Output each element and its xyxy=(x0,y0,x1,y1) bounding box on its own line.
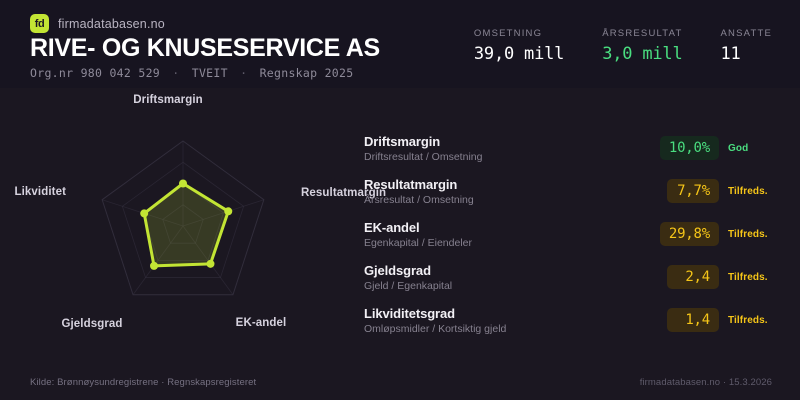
footer-credit: firmadatabasen.no · 15.3.2026 xyxy=(640,377,772,388)
metric-value-badge: 2,4 xyxy=(667,265,719,289)
kpi-value: 39,0 mill xyxy=(474,44,564,64)
metric-text: Gjeldsgrad Gjeld / Egenkapital xyxy=(364,263,667,292)
metric-row-likviditetsgrad[interactable]: Likviditetsgrad Omløpsmidler / Kortsikti… xyxy=(364,300,784,340)
metric-text: EK-andel Egenkapital / Eiendeler xyxy=(364,220,660,249)
company-orgnr: Org.nr 980 042 529 xyxy=(30,66,160,80)
metric-value-badge: 7,7% xyxy=(667,179,719,203)
radar-axis-label-driftsmargin: Driftsmargin xyxy=(133,94,203,106)
header-band: fd firmadatabasen.no RIVE- OG KNUSESERVI… xyxy=(0,0,800,88)
footer: Kilde: Brønnøysundregistrene · Regnskaps… xyxy=(0,370,800,400)
metric-formula: Driftsresultat / Omsetning xyxy=(364,151,660,163)
brand[interactable]: fd firmadatabasen.no xyxy=(30,14,165,33)
metric-list: Driftsmargin Driftsresultat / Omsetning … xyxy=(364,128,784,343)
kpi-ansatte: ANSATTE 11 xyxy=(720,28,772,64)
status-badge: Tilfreds. xyxy=(728,315,784,326)
report-card: fd firmadatabasen.no RIVE- OG KNUSESERVI… xyxy=(0,0,800,400)
metric-text: Resultatmargin Årsresultat / Omsetning xyxy=(364,177,667,206)
metric-right: 2,4 Tilfreds. xyxy=(667,265,784,289)
metric-row-resultatmargin[interactable]: Resultatmargin Årsresultat / Omsetning 7… xyxy=(364,171,784,211)
metric-right: 7,7% Tilfreds. xyxy=(667,179,784,203)
kpi-label: OMSETNING xyxy=(474,28,564,39)
metric-right: 10,0% God xyxy=(660,136,784,160)
metric-right: 1,4 Tilfreds. xyxy=(667,308,784,332)
page-title: RIVE- OG KNUSESERVICE AS xyxy=(30,34,380,63)
metric-name: Driftsmargin xyxy=(364,134,660,149)
kpi-arsresultat: ÅRSRESULTAT 3,0 mill xyxy=(602,28,682,64)
metric-name: Resultatmargin xyxy=(364,177,667,192)
radar-axis-label-gjeldsgrad: Gjeldsgrad xyxy=(61,318,122,330)
status-badge: Tilfreds. xyxy=(728,186,784,197)
status-badge: Tilfreds. xyxy=(728,229,784,240)
kpi-value: 3,0 mill xyxy=(602,44,682,64)
kpi-group: OMSETNING 39,0 mill ÅRSRESULTAT 3,0 mill… xyxy=(474,28,772,64)
company-place: TVEIT xyxy=(192,66,228,80)
metric-row-gjeldsgrad[interactable]: Gjeldsgrad Gjeld / Egenkapital 2,4 Tilfr… xyxy=(364,257,784,297)
radar-axis-label-ek-andel: EK-andel xyxy=(236,317,287,329)
meta-separator-2: · xyxy=(235,66,252,80)
status-badge: God xyxy=(728,143,784,154)
metric-value-badge: 10,0% xyxy=(660,136,719,160)
metric-value-badge: 29,8% xyxy=(660,222,719,246)
metric-name: EK-andel xyxy=(364,220,660,235)
metric-name: Likviditetsgrad xyxy=(364,306,667,321)
kpi-value: 11 xyxy=(720,44,772,64)
metric-formula: Egenkapital / Eiendeler xyxy=(364,237,660,249)
metric-right: 29,8% Tilfreds. xyxy=(660,222,784,246)
radar-chart: Driftsmargin Resultatmargin EK-andel Gje… xyxy=(0,88,360,350)
status-badge: Tilfreds. xyxy=(728,272,784,283)
metric-text: Driftsmargin Driftsresultat / Omsetning xyxy=(364,134,660,163)
radar-axis-label-likviditet: Likviditet xyxy=(15,186,66,198)
kpi-label: ANSATTE xyxy=(720,28,772,39)
metric-row-driftsmargin[interactable]: Driftsmargin Driftsresultat / Omsetning … xyxy=(364,128,784,168)
radar-chart-svg xyxy=(0,88,360,350)
meta-separator-1: · xyxy=(167,66,184,80)
metric-name: Gjeldsgrad xyxy=(364,263,667,278)
company-period: Regnskap 2025 xyxy=(260,66,354,80)
metric-text: Likviditetsgrad Omløpsmidler / Kortsikti… xyxy=(364,306,667,335)
company-meta: Org.nr 980 042 529 · TVEIT · Regnskap 20… xyxy=(30,66,353,80)
brand-name: firmadatabasen.no xyxy=(58,17,165,31)
footer-source: Kilde: Brønnøysundregistrene · Regnskaps… xyxy=(30,377,256,388)
kpi-label: ÅRSRESULTAT xyxy=(602,28,682,39)
metric-formula: Omløpsmidler / Kortsiktig gjeld xyxy=(364,323,667,335)
metric-formula: Årsresultat / Omsetning xyxy=(364,194,667,206)
kpi-omsetning: OMSETNING 39,0 mill xyxy=(474,28,564,64)
metric-row-ek-andel[interactable]: EK-andel Egenkapital / Eiendeler 29,8% T… xyxy=(364,214,784,254)
metric-formula: Gjeld / Egenkapital xyxy=(364,280,667,292)
radar-data-area xyxy=(144,184,228,266)
firmadatabasen-logo-icon: fd xyxy=(30,14,49,33)
metric-value-badge: 1,4 xyxy=(667,308,719,332)
